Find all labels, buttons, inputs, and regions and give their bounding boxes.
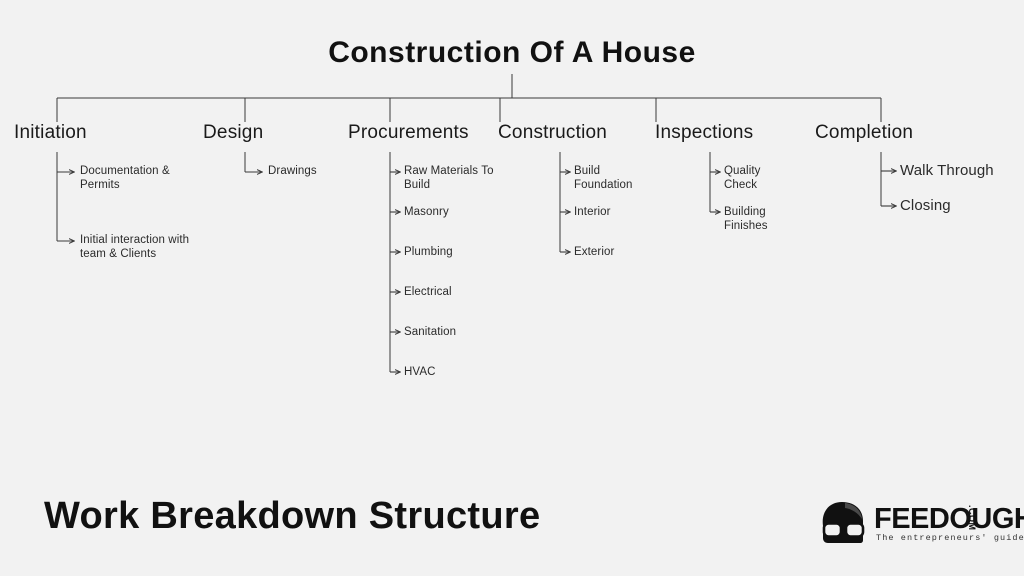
task-plumbing[interactable]: Plumbing [404,246,504,260]
connector-lines [0,0,1024,576]
face-avatar-icon [818,500,868,544]
phase-label-construction: Construction [498,122,607,144]
task-electrical[interactable]: Electrical [404,286,504,300]
footer-title: Work Breakdown Structure [44,495,540,538]
task-initial-interaction[interactable]: Initial interaction with team & Clients [80,234,190,261]
phase-label-initiation: Initiation [14,122,87,144]
task-exterior[interactable]: Exterior [574,246,654,260]
task-masonry[interactable]: Masonry [404,206,504,220]
phase-label-procurements: Procurements [348,122,469,144]
task-building-finishes[interactable]: Building Finishes [724,206,786,233]
task-closing[interactable]: Closing [900,197,1024,214]
logo-tagline: The entrepreneurs' guide [876,533,1024,543]
task-documentation-permits[interactable]: Documentation & Permits [80,165,185,192]
task-walk-through[interactable]: Walk Through [900,162,1024,179]
diagram-canvas: Construction Of A House [0,0,1024,576]
task-build-foundation[interactable]: Build Foundation [574,165,646,192]
phase-label-inspections: Inspections [655,122,753,144]
diagram-root-title: Construction Of A House [0,36,1024,70]
logo-domain-suffix: .COM [967,505,977,531]
task-raw-materials[interactable]: Raw Materials To Build [404,165,496,192]
phase-label-completion: Completion [815,122,913,144]
task-interior[interactable]: Interior [574,206,654,220]
logo-wordmark: FEEDOUGH [874,503,1024,536]
task-hvac[interactable]: HVAC [404,366,504,380]
feedough-logo[interactable]: FEEDOUGH .COM The entrepreneurs' guide [818,500,1008,550]
task-quality-check[interactable]: Quality Check [724,165,786,192]
phase-label-design: Design [203,122,263,144]
task-sanitation[interactable]: Sanitation [404,326,504,340]
task-drawings[interactable]: Drawings [268,165,378,179]
